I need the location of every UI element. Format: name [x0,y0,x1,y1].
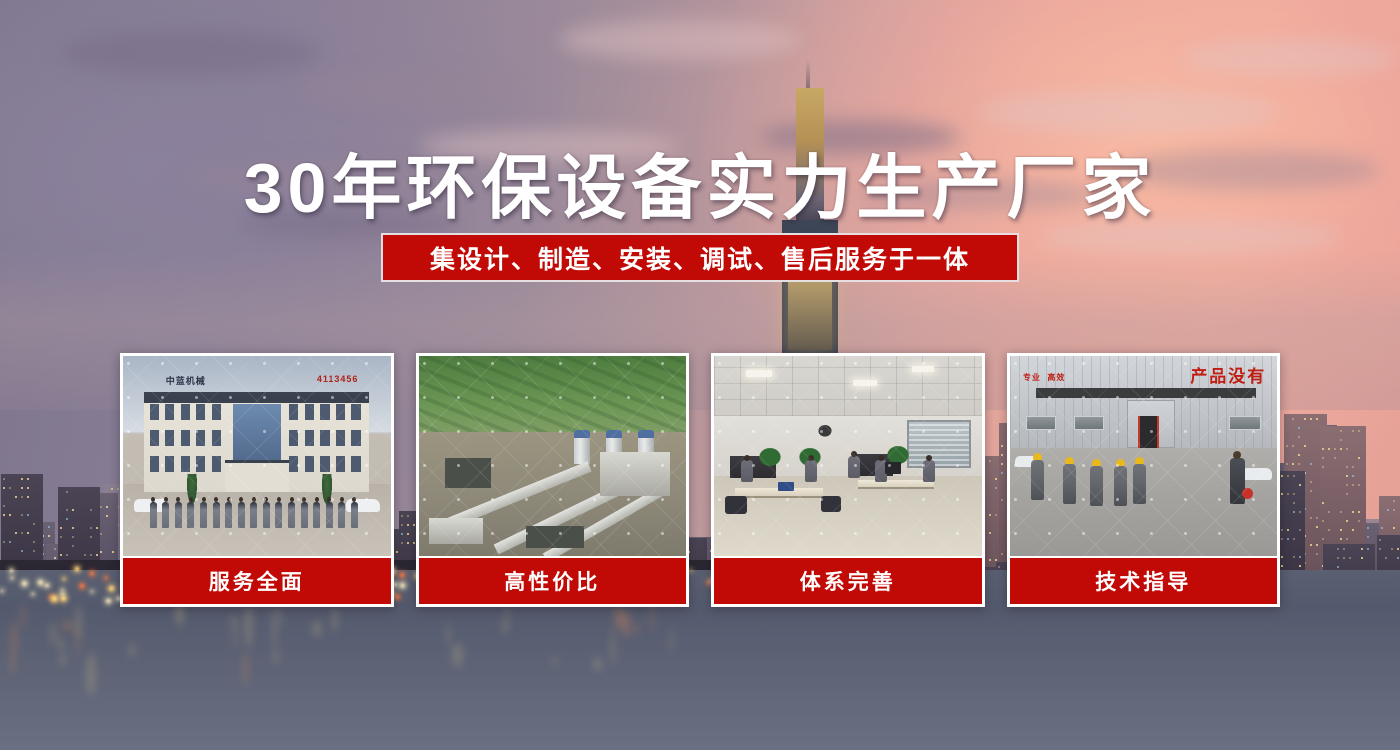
feature-card[interactable]: 产品没有 专业 高效 技术指导 [1007,353,1281,607]
subtitle-banner: 集设计、制造、安装、调试、售后服务于一体 [381,233,1019,282]
feature-card-row: 中蓝机械 4113456 服务全面 [120,353,1280,607]
subtitle-text: 集设计、制造、安装、调试、售后服务于一体 [430,240,970,276]
card-photo-headquarters: 中蓝机械 4113456 [123,356,391,556]
card-caption: 高性价比 [419,556,687,604]
feature-card[interactable]: 体系完善 [711,353,985,607]
page-title: 30年环保设备实力生产厂家 [0,132,1400,233]
card-photo-office-interior [714,356,982,556]
card-photo-industrial-plant [419,356,687,556]
card-caption: 体系完善 [714,556,982,604]
card-caption: 技术指导 [1010,556,1278,604]
factory-wall-slogan: 产品没有 [1190,362,1266,387]
card-caption: 服务全面 [123,556,391,604]
feature-card[interactable]: 高性价比 [416,353,690,607]
feature-card[interactable]: 中蓝机械 4113456 服务全面 [120,353,394,607]
card-photo-workers-factory: 产品没有 专业 高效 [1010,356,1278,556]
building-sign-text: 中蓝机械 [166,374,206,387]
building-phone-text: 4113456 [317,374,359,384]
